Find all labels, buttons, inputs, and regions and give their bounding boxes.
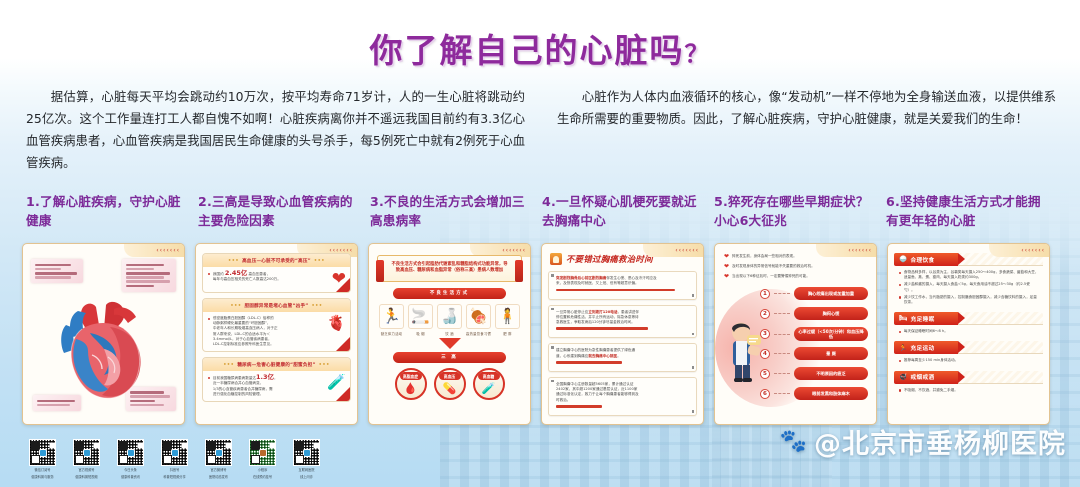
sign-number: 1 xyxy=(760,289,770,299)
lifestyle-icon-item: 🏃 缺乏体力活动 xyxy=(378,304,405,336)
lifestyle-icon-caption: 高热量饮食习惯 xyxy=(466,331,491,336)
lifestyle-icon-caption: 缺乏体力活动 xyxy=(381,331,403,336)
connector-line xyxy=(774,334,790,335)
qr-code-image[interactable] xyxy=(205,439,232,466)
qr-caption-line1: 官方微博号 xyxy=(211,468,227,472)
no-smoking-ribbon: 🚭 戒烟戒酒 xyxy=(894,371,958,384)
exercise-title: 充足运动 xyxy=(911,344,935,352)
outcome-label: 高血压 xyxy=(436,374,464,380)
qr-caption-line1: 小程序 xyxy=(258,468,268,472)
no-smoking-bullet-1: 不吸烟、不饮酒，并避免二手烟。 xyxy=(904,388,958,393)
section-heading-6: 6.坚持健康生活方式才能拥有更年轻的心脏 xyxy=(886,192,1058,230)
qr-caption-line1: 互联网医院 xyxy=(299,468,315,472)
risk-card-diabetes: ••• 糖尿病—危害心脏健康的“甜蜜负担” ••• 目前我国糖尿病患病数量达1.… xyxy=(202,357,351,402)
sign-number: 4 xyxy=(760,349,770,359)
chest-pain-card-2: 一旦异常心脏停止应立刻拨打120电话，患者讲述伴 停位置和危痛性活，并平止所有运… xyxy=(548,305,697,339)
risk-card-body-1: 我国约 2.45亿 高血压患者， 每年与高血压相关的死亡人数高达200万。 ❤ xyxy=(203,267,350,288)
heart-bullet-icon: ❤ xyxy=(724,274,729,280)
three-highs-row: 高脂血症 🩸 高血压 💊 高血糖 🧪 xyxy=(375,368,524,400)
lifestyle-icon-item: 🍶 饮 酒 xyxy=(436,304,463,336)
sleep-title: 充足睡眠 xyxy=(911,315,935,323)
ribbon-rule xyxy=(958,312,1043,325)
qr-caption-line2: 健康科普短视频 xyxy=(75,475,97,479)
outcome-hyperglycemia: 高血糖 🧪 xyxy=(473,368,505,400)
sudden-death-bullet-text: 及时发现身体的异常信号就能不失重要的救治时机。 xyxy=(732,264,815,269)
risk-stat-2: LDL-C xyxy=(249,316,260,320)
section-heading-5: 5.猝死存在哪些早期症状？小心6大征兆 xyxy=(714,192,886,230)
outcome-label: 高脂血症 xyxy=(397,374,425,380)
lifestyle-icon-item: 🚬 吸 烟 xyxy=(407,304,434,336)
outcome-hyperlipidemia: 高脂血症 🩸 xyxy=(395,368,427,400)
qr-caption-line2: 在线预约挂号 xyxy=(253,475,272,479)
hyperlipidemia-icon: 🩸 xyxy=(404,383,418,394)
panel-corner-mark-4: ‹‹‹‹‹‹‹ xyxy=(643,244,703,257)
heart-diagram-wrap xyxy=(29,253,178,419)
risk-card-text-3: 目前我国糖尿病患病数量达1.3亿， 近一半糖尿病合并心血管病变。 1/3的心血管… xyxy=(208,375,324,397)
qr-caption-line1: 微信订阅号 xyxy=(35,468,51,472)
high-calorie-food-icon: 🍖 xyxy=(466,304,491,329)
person-chest-pain-icon xyxy=(725,321,763,383)
risk-card-text-1: 我国约 2.45亿 高血压患者， 每年与高血压相关的死亡人数高达200万。 xyxy=(208,271,329,288)
qr-item-miniprogram[interactable]: 小程序 在线预约挂号 xyxy=(246,439,279,479)
lifestyle-banner-text: 不良生活方式会引起脂肪代谢紊乱和糖脂结构式功能异常，导致高血压、糖尿病和血脂异常… xyxy=(390,262,509,275)
sudden-death-bullet: ❤ 及时发现身体的异常信号就能不失重要的救治时机。 xyxy=(724,264,868,270)
sudden-death-diagram: 1 胸心绞痛出现或加重加重 2 胸闷心慌 3 心率过缓（<50次/分钟）和血压降… xyxy=(721,285,870,407)
qr-code-image[interactable] xyxy=(249,439,276,466)
no-smoking-title: 戒烟戒酒 xyxy=(911,373,935,381)
sign-row-3: 3 心率过缓（<50次/分钟）和血压降低 xyxy=(760,327,868,341)
qr-caption-line2: 线上问诊 xyxy=(300,475,313,479)
qr-caption-line2: 健康科普与服务 xyxy=(31,475,53,479)
risk-card-header-3: ••• 糖尿病—危害心脏健康的“甜蜜负担” ••• xyxy=(203,358,350,371)
page-title-text: 你了解自己的心脏吗 xyxy=(370,31,685,70)
risk-card-body-2: 低密度脂蛋白胆固醇（LDL-C）俗称的 动脉粥样硬化最重要的“坏胆固醇”， 中老… xyxy=(203,312,350,347)
obesity-icon: 🧍 xyxy=(495,304,520,329)
risk-card-body-3: 目前我国糖尿病患病数量达1.3亿， 近一半糖尿病合并心血管病变。 1/3的心血管… xyxy=(203,371,350,397)
ribbon-end-left xyxy=(376,260,384,282)
sign-row-6: 6 眼前发黑和肢体麻木 xyxy=(760,387,868,400)
ribbon-end-right xyxy=(515,260,523,282)
section-heading-3: 3.不良的生活方式会增加三高患病率 xyxy=(370,192,542,230)
sign-number: 2 xyxy=(760,309,770,319)
panel-corner-mark-6: ‹‹‹‹‹‹‹ xyxy=(989,244,1049,257)
sign-label: 胸心绞痛出现或加重加重 xyxy=(794,287,868,300)
panel-corner-mark-5: ‹‹‹‹‹‹‹ xyxy=(816,244,876,257)
ribbon-rule xyxy=(958,371,1043,384)
sudden-death-bullets: ❤ 猝死发生前，身体会局一些相对的表现。 ❤ 及时发现身体的异常信号就能不失重要… xyxy=(724,254,868,280)
lifestyle-group-label: 不良生活方式 xyxy=(393,288,506,299)
corner-accent xyxy=(336,337,350,351)
three-highs-label: 三 高 xyxy=(393,352,506,363)
heart-callout-top-right xyxy=(122,259,176,292)
corner-accent xyxy=(336,278,350,292)
exercise-bullet-1: 推荐每周至少150 min身体活动。 xyxy=(904,358,958,363)
infographic-poster: 你了解自己的心脏吗？ 据估算，心脏每天平均会跳动约10万次，按平均寿命71岁计，… xyxy=(0,0,1080,487)
smoking-icon: 🚬 xyxy=(408,304,433,329)
lifestyle-icon-item: 🍖 高热量饮食习惯 xyxy=(465,304,492,336)
risk-card-cholesterol: ••• 胆固醇异常是堵心血管“凶手” ••• 低密度脂蛋白胆固醇（LDL-C）俗… xyxy=(202,298,351,352)
content-panels: ‹‹‹‹‹‹‹ xyxy=(22,243,1060,425)
qr-caption-line2: 医院动态发布 xyxy=(209,475,228,479)
panel-sudden-death-signs: ‹‹‹‹‹‹‹ ❤ 猝死发生前，身体会局一些相对的表现。 ❤ 及时发现身体的异常… xyxy=(714,243,877,425)
no-smoking-body: 不吸烟、不饮酒，并避免二手烟。 xyxy=(894,384,1043,395)
connector-line xyxy=(774,373,790,374)
chest-pain-header-text: 不要错过胸痛救治时间 xyxy=(566,253,653,265)
connector-line xyxy=(774,293,790,294)
risk-card-hypertension: ••• 高血压—心脏不可承受的“高压” ••• 我国约 2.45亿 高血压患者，… xyxy=(202,253,351,293)
diet-title: 合理饮食 xyxy=(911,256,935,264)
connector-line xyxy=(774,393,790,394)
qr-code-image[interactable] xyxy=(29,439,56,466)
outcome-label: 高血糖 xyxy=(475,374,503,380)
sign-label: 心率过缓（<50次/分钟）和血压降低 xyxy=(794,327,868,341)
dots-ornament: ••• xyxy=(319,362,330,368)
diet-bullet-2: 减少盐和酱的摄入，每天摄入食盐＜5g，每天食用油不超过25～30g（约2.5瓷勺… xyxy=(904,282,1039,292)
no-smoking-icon: 🚭 xyxy=(899,374,908,381)
qr-caption-line1: 今日头条 xyxy=(124,468,137,472)
heart-bullet-icon: ❤ xyxy=(724,254,729,260)
baidu-paw-icon: 🐾 xyxy=(780,431,808,453)
sudden-death-bullet-text: 猝死发生前，身体会局一些相对的表现。 xyxy=(732,254,797,259)
intro-paragraph-left: 据估算，心脏每天平均会跳动约10万次，按平均寿命71岁计，人的一生心脏将跳动约2… xyxy=(26,86,525,174)
sleep-bullet-1: 每天保证睡眠时间6～8 h。 xyxy=(904,329,948,334)
sudden-death-bullet: ❤ 当出现以下6种征兆时，一定要警惕猝死的可能。 xyxy=(724,274,868,280)
risk-card-title-1: 高血压—心脏不可承受的“高压” xyxy=(242,258,311,264)
alcohol-icon: 🍶 xyxy=(437,304,462,329)
qr-item-toutiao[interactable]: 今日头条 健康科普资讯 xyxy=(114,439,147,479)
connector-line xyxy=(774,313,790,314)
lifestyle-section-sleep: 🛏 充足睡眠 每天保证睡眠时间6～8 h。 xyxy=(894,312,1043,336)
panel-healthy-lifestyle: ‹‹‹‹‹‹‹ 🍚 合理饮食 食物品种多样，以谷类为主，谷薯类每天摄入250～4… xyxy=(887,243,1050,425)
panel-chest-pain-center: ‹‹‹‹‹‹‹ 不要错过胸痛救治时间 突发剧烈胸骨后心前区剧烈胸痛伴发生心慌、恶… xyxy=(541,243,704,425)
dots-ornament: ••• xyxy=(228,258,239,264)
diet-ribbon: 🍚 合理饮食 xyxy=(894,253,958,266)
heart-anatomy-icon xyxy=(52,299,156,407)
watermark-text: @北京市垂杨柳医院 xyxy=(814,422,1066,461)
sudden-death-bullet-text: 当出现以下6种征兆时，一定要警惕猝死的可能。 xyxy=(732,274,810,279)
qr-item-internet-hospital[interactable]: 互联网医院 线上问诊 xyxy=(290,439,323,479)
diet-body: 食物品种多样，以谷类为主，谷薯类每天摄入250～400g，多食蔬菜、菌菇和大豆，… xyxy=(894,266,1043,307)
section-heading-2: 2.三高是导致心血管疾病的主要危险因素 xyxy=(198,192,370,230)
diet-bullet-3: 减少饮工作水，当代脂肪的摄入，控制膳食胆固醇摄入，减少含糖饮料的摄入，足量饮茶。 xyxy=(904,295,1039,305)
qr-item-wechat[interactable]: 微信订阅号 健康科普与服务 xyxy=(26,439,59,479)
lifestyle-section-no-smoking: 🚭 戒烟戒酒 不吸烟、不饮酒，并避免二手烟。 xyxy=(894,371,1043,395)
page-title: 你了解自己的心脏吗？ xyxy=(0,24,1080,72)
qr-caption-line1: 官方视频号 xyxy=(79,468,95,472)
sign-row-5: 5 不明原因的疲乏 xyxy=(760,367,868,380)
risk-card-header-1: ••• 高血压—心脏不可承受的“高压” ••• xyxy=(203,254,350,267)
lifestyle-icon-item: 🧍 肥 胖 xyxy=(494,304,521,336)
sign-number: 6 xyxy=(760,389,770,399)
dots-ornament: ••• xyxy=(230,303,241,309)
inactivity-icon: 🏃 xyxy=(379,304,404,329)
hypertension-icon: 💊 xyxy=(443,383,457,394)
qr-caption-line2: 健康科普资讯 xyxy=(121,475,140,479)
watermark: 🐾 @北京市垂杨柳医院 xyxy=(780,422,1066,461)
sign-number: 3 xyxy=(760,329,770,339)
exercise-icon: 🏃 xyxy=(899,345,908,352)
sign-row-4: 4 晕 厥 xyxy=(760,347,868,360)
outcome-hypertension: 高血压 💊 xyxy=(434,368,466,400)
qr-code-image[interactable] xyxy=(161,439,188,466)
risk-stat-1: 2.45亿 xyxy=(225,269,248,277)
hyperglycemia-icon: 🧪 xyxy=(482,383,496,394)
sign-label: 晕 厥 xyxy=(794,347,868,360)
lifestyle-icon-row: 🏃 缺乏体力活动 🚬 吸 烟 🍶 饮 酒 🍖 高热量饮食习惯 🧍 xyxy=(375,304,524,336)
qr-item-video[interactable]: 官方视频号 健康科普短视频 xyxy=(70,439,103,479)
risk-card-text-2: 低密度脂蛋白胆固醇（LDL-C）俗称的 动脉粥样硬化最重要的“坏胆固醇”， 中老… xyxy=(208,316,324,347)
chest-pain-card-3: 建立胸痛中心的医院为急性胸痛患者提供了绿色通 道，心系建到胸痛应就去胸痛中心就医… xyxy=(548,343,697,372)
lifestyle-icon-caption: 肥 胖 xyxy=(503,331,511,336)
diet-bullet-1: 食物品种多样，以谷类为主，谷薯类每天摄入250～400g，多食蔬菜、菌菇和大豆，… xyxy=(904,270,1039,280)
sign-label: 胸闷心慌 xyxy=(794,307,868,320)
section-headings: 1.了解心脏疾病，守护心脏健康 2.三高是导致心血管疾病的主要危险因素 3.不良… xyxy=(26,192,1060,230)
qr-caption-line1: 抖音号 xyxy=(170,468,180,472)
panel-lifestyle-risk: ‹‹‹‹‹‹‹ 不良生活方式会引起脂肪代谢紊乱和糖脂结构式功能异常，导致高血压、… xyxy=(368,243,531,425)
corner-accent xyxy=(336,387,350,401)
dots-ornament: ••• xyxy=(311,303,322,309)
sleep-body: 每天保证睡眠时间6～8 h。 xyxy=(894,325,1043,336)
dots-ornament: ••• xyxy=(314,258,325,264)
qr-item-weibo[interactable]: 官方微博号 医院动态发布 xyxy=(202,439,235,479)
sign-row-1: 1 胸心绞痛出现或加重加重 xyxy=(760,287,868,300)
sleep-icon: 🛏 xyxy=(899,315,908,322)
sign-label: 眼前发黑和肢体麻木 xyxy=(794,387,868,400)
heart-bullet-icon: ❤ xyxy=(724,264,729,270)
qr-code-strip: 微信订阅号 健康科普与服务 官方视频号 健康科普短视频 今日头条 健康科普资讯 … xyxy=(26,439,323,479)
food-icon: 🍚 xyxy=(899,256,908,263)
sign-label: 不明原因的疲乏 xyxy=(794,367,868,380)
section-heading-4: 4.一旦怀疑心肌梗死要就近去胸痛中心 xyxy=(542,192,714,230)
risk-card-title-2: 胆固醇异常是堵心血管“凶手” xyxy=(245,303,309,309)
section-heading-1: 1.了解心脏疾病，守护心脏健康 xyxy=(26,192,198,230)
intro-paragraphs: 据估算，心脏每天平均会跳动约10万次，按平均寿命71岁计，人的一生心脏将跳动约2… xyxy=(26,86,1056,174)
page-title-question-mark: ？ xyxy=(685,40,711,68)
heart-callout-top-left xyxy=(31,259,83,283)
qr-item-douyin[interactable]: 抖音号 科普短视频分享 xyxy=(158,439,191,479)
lifestyle-icon-caption: 饮 酒 xyxy=(445,331,453,336)
down-arrow-icon xyxy=(439,338,461,349)
panel-heart-anatomy: ‹‹‹‹‹‹‹ xyxy=(22,243,185,425)
panel-three-highs-risk: ‹‹‹‹‹‹‹ ••• 高血压—心脏不可承受的“高压” ••• 我国约 2.45… xyxy=(195,243,358,425)
lifestyle-icon-caption: 吸 烟 xyxy=(416,331,424,336)
connector-line xyxy=(774,353,790,354)
risk-card-title-3: 糖尿病—危害心脏健康的“甜蜜负担” xyxy=(237,362,315,368)
alarm-icon xyxy=(550,253,562,265)
ribbon-rule xyxy=(958,341,1043,354)
lifestyle-banner: 不良生活方式会引起脂肪代谢紊乱和糖脂结构式功能异常，导致高血压、糖尿病和血脂异常… xyxy=(377,255,522,282)
chest-pain-card-4: 全国胸痛中心注册数量超5605家，累计通过认证 2402家，其中超1200家通过… xyxy=(548,377,697,416)
exercise-body: 推荐每周至少150 min身体活动。 xyxy=(894,354,1043,365)
sleep-ribbon: 🛏 充足睡眠 xyxy=(894,312,958,325)
risk-card-header-2: ••• 胆固醇异常是堵心血管“凶手” ••• xyxy=(203,299,350,312)
qr-caption-line2: 科普短视频分享 xyxy=(163,475,185,479)
qr-code-image[interactable] xyxy=(117,439,144,466)
intro-paragraph-right: 心脏作为人体内血液循环的核心，像“发动机”一样不停地为全身输送血液，以提供维系生… xyxy=(557,86,1056,174)
sign-number: 5 xyxy=(760,369,770,379)
lifestyle-section-exercise: 🏃 充足运动 推荐每周至少150 min身体活动。 xyxy=(894,341,1043,365)
qr-code-image[interactable] xyxy=(73,439,100,466)
dots-ornament: ••• xyxy=(223,362,234,368)
qr-code-image[interactable] xyxy=(293,439,320,466)
lifestyle-section-diet: 🍚 合理饮食 食物品种多样，以谷类为主，谷薯类每天摄入250～400g，多食蔬菜… xyxy=(894,253,1043,307)
sign-row-2: 2 胸闷心慌 xyxy=(760,307,868,320)
exercise-ribbon: 🏃 充足运动 xyxy=(894,341,958,354)
chest-pain-card-1: 突发剧烈胸骨后心前区剧烈胸痛伴发生心慌、恶心及冷汗时应及 来，及快表现及时就医，… xyxy=(548,271,697,300)
